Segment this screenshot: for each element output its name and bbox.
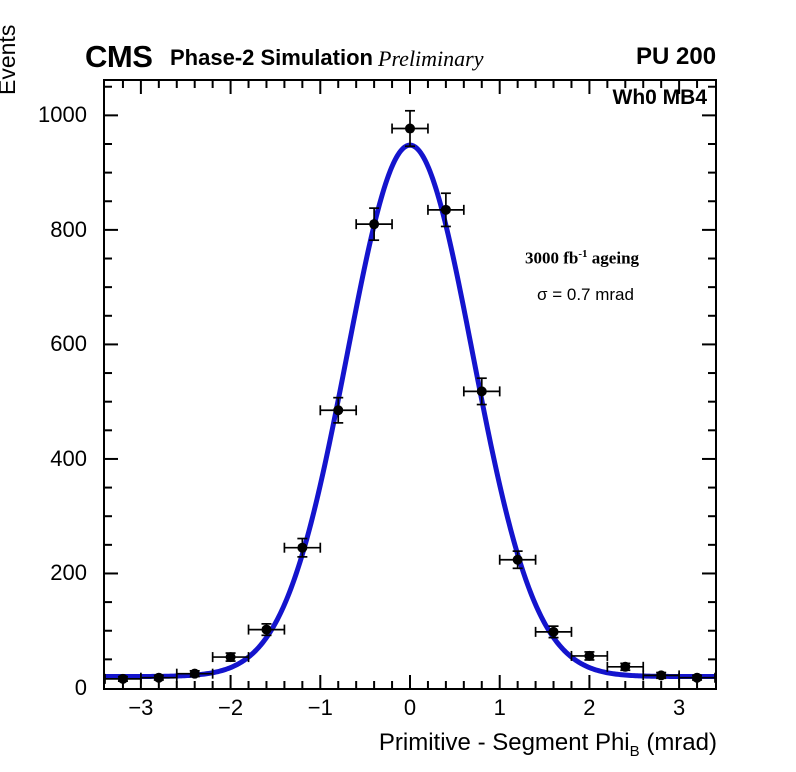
x-axis-tick-labels: −3−2−10123 [103,697,717,727]
cms-preliminary-label: Preliminary [378,48,484,70]
luminosity-value: 3000 fb [525,249,578,268]
chart-graphics [105,81,715,688]
x-tick-label: 3 [659,697,699,719]
data-marker [405,124,415,134]
chamber-label: Wh0 MB4 [613,87,708,108]
data-marker [333,405,343,415]
axis-ticks [105,81,715,688]
cms-logo: CMS [85,41,152,72]
data-point [249,624,285,635]
data-marker [226,652,236,662]
data-point [607,662,643,672]
data-point [392,111,428,147]
x-axis-title-main: Primitive - Segment Phi [379,729,630,756]
data-marker [656,670,666,680]
x-axis-title: Primitive - Segment PhiB (mrad) [379,731,717,764]
x-axis-title-subscript: B [630,743,640,760]
y-tick-label: 200 [50,562,87,584]
data-marker [190,669,200,679]
x-tick-label: 0 [390,697,430,719]
data-point [356,208,392,240]
y-axis-tick-labels: 02004006008001000 [0,79,96,690]
x-tick-label: −1 [300,697,340,719]
data-point [536,626,572,637]
data-point [320,398,356,423]
x-tick-label: −3 [121,697,161,719]
cms-header: CMS Phase-2 Simulation Preliminary PU 20… [0,0,796,79]
data-marker [441,205,451,215]
cms-subtitle: Phase-2 Simulation [170,47,373,69]
data-marker [692,673,702,683]
data-marker [584,651,594,661]
plot-area [105,81,715,688]
data-marker [369,219,379,229]
data-point [284,539,320,557]
luminosity-suffix: ageing [588,249,639,268]
x-tick-label: 2 [569,697,609,719]
data-points [105,111,715,684]
sigma-annotation: σ = 0.7 mrad [537,286,634,303]
y-tick-label: 400 [50,448,87,470]
luminosity-annotation: 3000 fb-1 ageing [525,246,639,267]
pileup-label: PU 200 [636,45,716,69]
data-marker [297,543,307,553]
y-tick-label: 600 [50,333,87,355]
data-marker [118,674,128,684]
data-marker [513,555,523,565]
luminosity-exponent: -1 [578,248,587,260]
x-axis-title-unit: (mrad) [640,729,717,756]
y-tick-label: 1000 [38,104,87,126]
data-marker [261,625,271,635]
data-point [464,378,500,404]
x-tick-label: 1 [480,697,520,719]
data-marker [154,673,164,683]
plot-canvas: CMS Phase-2 Simulation Preliminary PU 20… [0,0,796,772]
data-marker [477,386,487,396]
data-point [500,551,536,568]
x-tick-label: −2 [211,697,251,719]
y-tick-label: 800 [50,219,87,241]
y-tick-label: 0 [75,677,87,699]
data-point [428,193,464,226]
data-marker [620,662,630,672]
plot-frame: Wh0 MB4 3000 fb-1 ageing σ = 0.7 mrad [103,79,717,690]
data-marker [549,627,559,637]
fit-curve [105,145,715,676]
